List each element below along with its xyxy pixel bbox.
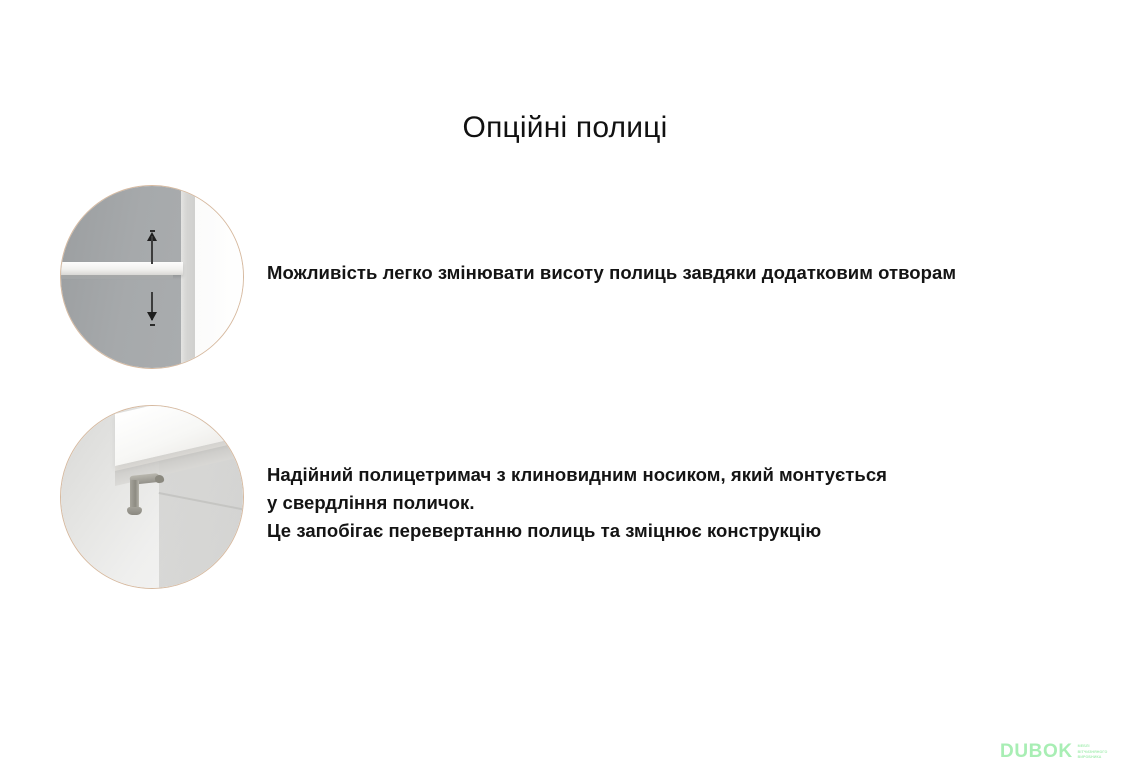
feature-2-line-1: Надійний полицетримач з клиновидним носи… bbox=[267, 461, 887, 489]
adjustable-shelf-photo-inner bbox=[61, 186, 243, 368]
brand-logo-wordmark: DUBOK bbox=[1000, 742, 1073, 761]
shelf-holder-photo-inner bbox=[61, 406, 243, 588]
up-down-arrow-icon bbox=[144, 230, 160, 326]
shelf-holder-bracket bbox=[123, 474, 157, 514]
shelf-board bbox=[61, 262, 183, 275]
adjustable-shelf-photo bbox=[60, 185, 244, 369]
feature-description-2: Надійний полицетримач з клиновидним носи… bbox=[267, 461, 887, 545]
feature-1-line-1: Можливість легко змінювати висоту полиць… bbox=[267, 259, 956, 287]
brand-tagline-line-2: ВІТЧИЗНЯНОГО bbox=[1078, 750, 1108, 754]
cabinet-side-panel-front bbox=[195, 186, 243, 368]
feature-2-line-2: у свердління поличок. bbox=[267, 489, 887, 517]
feature-description-1: Можливість легко змінювати висоту полиць… bbox=[267, 259, 956, 287]
shelf-holder-photo bbox=[60, 405, 244, 589]
bracket-foot bbox=[127, 507, 142, 515]
arrow-cap-bottom bbox=[150, 324, 155, 326]
brand-logo-tagline: МЕБЛІ ВІТЧИЗНЯНОГО ВИРОБНИКА bbox=[1078, 743, 1108, 759]
brand-tagline-line-3: ВИРОБНИКА bbox=[1078, 755, 1108, 759]
cabinet-side-panel-edge bbox=[181, 186, 195, 368]
brand-logo: DUBOK МЕБЛІ ВІТЧИЗНЯНОГО ВИРОБНИКА bbox=[1000, 742, 1107, 761]
page-title: Опційні полиці bbox=[0, 110, 1130, 146]
arrow-head-down-icon bbox=[147, 312, 157, 321]
feature-2-line-3: Це запобігає перевертанню полиць та зміц… bbox=[267, 517, 887, 545]
brand-tagline-line-1: МЕБЛІ bbox=[1078, 744, 1108, 748]
arrow-shaft-up bbox=[151, 236, 153, 264]
slide-canvas: Опційні полиці Можливість л bbox=[0, 0, 1130, 773]
